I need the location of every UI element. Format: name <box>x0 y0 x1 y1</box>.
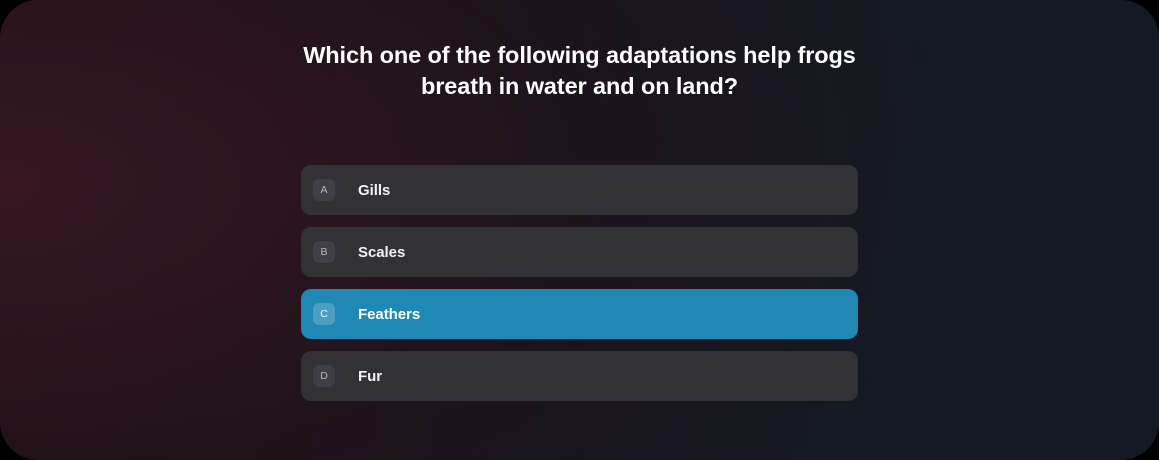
question-text: Which one of the following adaptations h… <box>270 40 890 102</box>
answer-option-b[interactable]: BScales <box>301 227 858 277</box>
option-key-badge: D <box>313 365 335 387</box>
option-key-badge: B <box>313 241 335 263</box>
option-label: Gills <box>358 182 390 199</box>
option-label: Fur <box>358 368 382 385</box>
answer-options-list: AGillsBScalesCFeathersDFur <box>301 165 858 401</box>
answer-option-a[interactable]: AGills <box>301 165 858 215</box>
option-key-badge: C <box>313 303 335 325</box>
quiz-card: Which one of the following adaptations h… <box>0 0 1159 460</box>
answer-option-d[interactable]: DFur <box>301 351 858 401</box>
option-key-badge: A <box>313 179 335 201</box>
answer-option-c[interactable]: CFeathers <box>301 289 858 339</box>
option-label: Feathers <box>358 306 420 323</box>
option-label: Scales <box>358 244 405 261</box>
question-block: Which one of the following adaptations h… <box>270 40 890 102</box>
